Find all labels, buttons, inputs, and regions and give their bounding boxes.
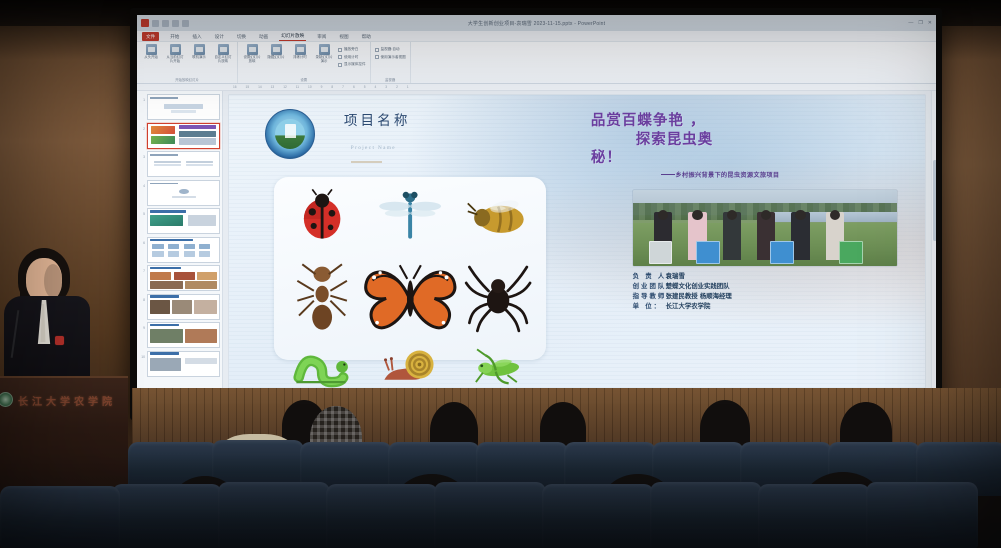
thumb-content — [197, 272, 217, 280]
thumbnail-number: 4 — [140, 180, 145, 188]
seat — [650, 482, 762, 548]
info-key: 指导教师： — [633, 292, 666, 302]
thumb-content — [154, 161, 181, 162]
thumb-title-line — [150, 183, 178, 185]
thumbnail-row[interactable]: 8 — [140, 294, 220, 320]
ruler-tick: 7 — [342, 85, 344, 89]
slide-thumbnail-5[interactable] — [147, 208, 220, 234]
slide-thumbnail-1[interactable] — [147, 94, 220, 120]
thumbnail-row[interactable]: 9 — [140, 322, 220, 348]
snail-icon — [366, 343, 454, 390]
powerpoint-window[interactable]: 大学生创新创业项目-袁瑞雪 2023-11-15.pptx - PowerPoi… — [137, 15, 936, 414]
grasshopper-icon — [454, 343, 542, 390]
thumb-content — [179, 125, 216, 129]
thumb-content — [152, 244, 163, 250]
close-icon[interactable]: ✕ — [928, 20, 932, 26]
thumb-content — [168, 244, 179, 250]
title-underline — [351, 161, 382, 163]
ribbon-tab-strip[interactable]: 文件 开始 插入 设计 切换 动画 幻灯片放映 审阅 视图 帮助 — [137, 31, 936, 42]
play-from-current-icon — [170, 44, 181, 55]
thumb-content — [150, 324, 178, 326]
thumbnail-number: 8 — [140, 294, 145, 302]
tab-animations[interactable]: 动画 — [257, 34, 270, 42]
thumbnail-number: 10 — [140, 351, 145, 359]
checkbox-box — [338, 48, 342, 52]
team-group-photo — [633, 190, 897, 266]
thumbnail-number: 2 — [140, 123, 145, 131]
record-slideshow-label: 录制幻灯片演示 — [314, 56, 334, 64]
thumb-content — [179, 189, 189, 194]
group-label-start-show: 开始放映幻灯片 — [141, 77, 233, 82]
thumbnail-number: 6 — [140, 237, 145, 245]
project-name-subtitle: Project Name — [351, 145, 396, 151]
checkbox-box — [338, 63, 342, 67]
info-key: 单 位： — [633, 302, 666, 312]
seat — [758, 484, 870, 548]
thumb-content — [151, 136, 175, 144]
minimize-icon[interactable]: — — [908, 20, 913, 26]
photo-person — [723, 212, 742, 259]
presenter-view-label: 使用演示者视图 — [381, 55, 406, 60]
setup-show-label: 设置幻灯片放映 — [242, 56, 262, 64]
monarch-butterfly-icon — [366, 252, 454, 343]
slide-thumbnail-2[interactable] — [147, 123, 220, 149]
thumb-content — [179, 138, 216, 145]
thumbnail-number: 9 — [140, 322, 145, 330]
thumb-content — [150, 329, 183, 342]
vertical-scrollbar[interactable] — [931, 91, 936, 404]
thumb-content — [199, 244, 210, 250]
checkbox-box — [375, 55, 379, 59]
thumb-content — [150, 281, 183, 289]
use-timings-label: 使用计时 — [344, 55, 358, 60]
ant-icon — [278, 252, 366, 343]
thumb-title-line — [150, 154, 178, 156]
ruler-tick: 15 — [246, 85, 250, 89]
from-current-slide-button[interactable]: 从当前幻灯片开始 — [165, 44, 185, 64]
thumb-content — [164, 104, 204, 109]
from-beginning-button[interactable]: 从头开始 — [141, 44, 161, 60]
info-value: 袁瑞雪 — [666, 272, 685, 282]
present-online-button[interactable]: 联机演示 — [189, 44, 209, 60]
info-key: 负 责 人： — [633, 272, 666, 282]
record-slideshow-icon — [319, 44, 330, 55]
insect-collage-card — [274, 177, 545, 360]
projection-screen-bezel: 大学生创新创业项目-袁瑞雪 2023-11-15.pptx - PowerPoi… — [130, 8, 942, 420]
use-timings-checkbox[interactable]: 使用计时 — [338, 55, 366, 60]
ruler-tick: 10 — [308, 85, 312, 89]
thumb-content — [151, 126, 175, 134]
horizontal-ruler: 16 15 14 13 12 11 10 9 8 7 6 5 4 3 2 1 — [137, 84, 936, 91]
info-key: 创业团队： — [633, 282, 666, 292]
info-row-organization: 单 位： 长江大学农学院 — [633, 302, 911, 312]
audience-area — [0, 388, 1001, 548]
ruler-tick: 2 — [396, 85, 398, 89]
present-online-icon — [194, 44, 205, 55]
from-beginning-label: 从头开始 — [144, 56, 158, 60]
group-label-setup: 设置 — [242, 77, 366, 82]
info-value: 楚蝶文化创业实践团队 — [666, 282, 730, 292]
slide-thumbnail-7[interactable] — [147, 265, 220, 291]
ruler-tick: 3 — [385, 85, 387, 89]
thumb-content — [150, 300, 170, 313]
slide-thumbnail-8[interactable] — [147, 294, 220, 320]
ruler-tick: 5 — [364, 85, 366, 89]
thumb-content — [199, 251, 210, 257]
slide-thumbnail-3[interactable] — [147, 151, 220, 177]
thumb-content — [150, 215, 183, 226]
thumb-content — [185, 281, 217, 289]
tab-view[interactable]: 视图 — [337, 34, 350, 42]
dragonfly-icon — [366, 181, 454, 251]
project-info-block: 负 责 人： 袁瑞雪 创业团队： 楚蝶文化创业实践团队 指导教师： 张建民教授 … — [633, 272, 911, 312]
record-slideshow-button[interactable]: 录制幻灯片演示 — [314, 44, 334, 64]
yangtze-university-logo — [265, 109, 315, 159]
scrollbar-thumb[interactable] — [933, 160, 937, 241]
photo-display-board — [839, 241, 863, 264]
ruler-tick: 6 — [353, 85, 355, 89]
hide-slide-button[interactable]: 隐藏幻灯片 — [266, 44, 286, 60]
custom-show-label: 自定义幻灯片放映 — [213, 56, 233, 64]
thumb-content — [185, 358, 217, 364]
thumbnail-row[interactable]: 4 — [140, 180, 220, 206]
thumb-content — [150, 272, 171, 280]
caterpillar-icon — [278, 343, 366, 390]
show-media-controls-checkbox[interactable]: 显示媒体控件 — [338, 62, 366, 67]
ruler-tick: 4 — [375, 85, 377, 89]
maximize-icon[interactable]: ❐ — [918, 20, 922, 26]
photo-person — [791, 212, 810, 259]
tab-review[interactable]: 审阅 — [315, 34, 328, 42]
seat — [866, 482, 978, 548]
photo-person-head — [761, 210, 771, 220]
play-narrations-label: 播放旁白 — [344, 47, 358, 52]
thumb-content — [179, 131, 216, 137]
info-value: 长江大学农学院 — [666, 302, 711, 312]
presenter-view-checkbox[interactable]: 使用演示者视图 — [375, 55, 406, 60]
thumb-content — [186, 161, 213, 162]
ruler-tick: 13 — [271, 85, 275, 89]
seat — [218, 482, 330, 548]
current-slide[interactable]: 项目名称 Project Name 品赏百蝶争艳 ， 探索昆虫奥 秘！ 乡村振兴… — [229, 95, 925, 400]
thumbnail-row[interactable]: 7 — [140, 265, 220, 291]
rehearse-timings-icon — [295, 44, 306, 55]
ruler-tick: 11 — [296, 85, 299, 89]
thumb-content — [150, 358, 181, 371]
monitor-icon — [375, 48, 379, 52]
tab-file[interactable]: 文件 — [142, 32, 159, 41]
tab-help[interactable]: 帮助 — [360, 34, 373, 42]
thumb-content — [186, 164, 213, 165]
headline-subtitle: 乡村振兴背景下的昆虫资源文旅项目 — [661, 170, 919, 179]
photo-person-head — [795, 210, 805, 220]
tab-design[interactable]: 设计 — [213, 34, 226, 42]
thumb-content — [150, 352, 178, 354]
slide-canvas-area[interactable]: 项目名称 Project Name 品赏百蝶争艳 ， 探索昆虫奥 秘！ 乡村振兴… — [223, 91, 931, 404]
slide-thumbnail-6[interactable] — [147, 237, 220, 263]
custom-show-icon — [218, 44, 229, 55]
monitor-controls[interactable]: 监视器:自动 使用演示者视图 — [375, 44, 406, 60]
thumbnail-number: 3 — [140, 151, 145, 159]
slide-thumbnail-pane[interactable]: 1 2 — [137, 91, 223, 404]
thumbnail-number: 5 — [140, 208, 145, 216]
thumb-content — [172, 196, 196, 198]
info-value: 张建民教授 杨顺海经理 — [666, 292, 732, 302]
seat — [434, 482, 546, 548]
photo-person-head — [692, 210, 702, 220]
show-media-controls-label: 显示媒体控件 — [344, 62, 366, 67]
info-row-team: 创业团队： 楚蝶文化创业实践团队 — [633, 282, 911, 292]
hide-slide-icon — [271, 44, 282, 55]
thumbnail-row[interactable]: 10 — [140, 351, 220, 377]
thumbnail-row[interactable]: 5 — [140, 208, 220, 234]
info-row-leader: 负 责 人： 袁瑞雪 — [633, 272, 911, 282]
setup-show-icon — [247, 44, 258, 55]
seat — [112, 484, 222, 548]
ruler-tick: 8 — [331, 85, 333, 89]
thumbnail-number: 1 — [140, 94, 145, 102]
thumb-content — [184, 244, 195, 250]
seat — [0, 486, 120, 548]
thumbnail-row[interactable]: 6 — [140, 237, 220, 263]
seat — [326, 484, 438, 548]
title-bar: 大学生创新创业项目-袁瑞雪 2023-11-15.pptx - PowerPoi… — [137, 15, 936, 31]
ruler-tick: 1 — [407, 85, 409, 89]
play-from-start-icon — [146, 44, 157, 55]
hide-slide-label: 隐藏幻灯片 — [268, 56, 285, 60]
headline-line-1: 品赏百蝶争艳 ， — [591, 113, 706, 129]
ruler-tick: 16 — [233, 85, 237, 89]
thumb-content — [150, 239, 193, 241]
thumb-content — [150, 267, 181, 269]
logo-inner-emblem — [275, 119, 305, 149]
setup-checkbox-list[interactable]: 播放旁白 使用计时 显示媒体控件 — [338, 44, 366, 67]
ladybug-icon — [278, 181, 366, 251]
project-name-title: 项目名称 — [344, 115, 411, 129]
thumbnail-row[interactable]: 2 — [140, 123, 220, 149]
ruler-tick: 9 — [321, 85, 323, 89]
checkbox-box — [338, 55, 342, 59]
tab-slideshow[interactable]: 幻灯片放映 — [279, 33, 306, 42]
slide-thumbnail-10[interactable] — [147, 351, 220, 377]
slide-thumbnail-9[interactable] — [147, 322, 220, 348]
thumb-content — [168, 251, 179, 257]
photo-display-board — [770, 241, 794, 264]
custom-slideshow-button[interactable]: 自定义幻灯片放映 — [213, 44, 233, 64]
headline-line-2: 探索昆虫奥 — [591, 131, 911, 150]
seat — [542, 484, 654, 548]
photo-display-board — [696, 241, 720, 264]
setup-slideshow-button[interactable]: 设置幻灯片放映 — [242, 44, 262, 64]
tab-transitions[interactable]: 切换 — [235, 34, 248, 42]
slide-thumbnail-4[interactable] — [147, 180, 220, 206]
thumb-content — [172, 300, 192, 313]
photo-display-board — [649, 241, 673, 264]
photo-person-head — [727, 210, 737, 220]
thumb-content — [150, 210, 186, 212]
group-label-monitors: 监视器 — [375, 77, 406, 82]
ruler-tick: 14 — [258, 85, 262, 89]
tab-insert[interactable]: 插入 — [190, 34, 203, 42]
rehearse-timings-button[interactable]: 排练计时 — [290, 44, 310, 60]
window-controls[interactable]: — ❐ ✕ — [908, 20, 932, 26]
bee-icon — [454, 181, 542, 251]
ribbon-group-start-show: 从头开始 从当前幻灯片开始 联机演示 自定义幻灯片放映 — [137, 42, 238, 83]
ribbon-group-monitors: 监视器:自动 使用演示者视图 监视器 — [371, 42, 411, 83]
spider-icon — [454, 252, 542, 343]
headline-line-3: 秘！ — [591, 149, 911, 168]
thumbnail-row[interactable]: 1 — [140, 94, 220, 120]
photo-person-head — [658, 210, 668, 220]
thumbnail-number: 7 — [140, 265, 145, 273]
thumb-content — [194, 300, 217, 313]
present-online-label: 联机演示 — [192, 56, 206, 60]
presenter-face-shadow — [44, 264, 62, 298]
info-row-advisor: 指导教师： 张建民教授 杨顺海经理 — [633, 292, 911, 302]
ruler-tick: 12 — [283, 85, 287, 89]
slide-headline: 品赏百蝶争艳 ， 探索昆虫奥 秘！ — [591, 112, 911, 169]
thumb-title-line — [150, 97, 178, 99]
window-title: 大学生创新创业项目-袁瑞雪 2023-11-15.pptx - PowerPoi… — [137, 20, 936, 27]
ribbon-body[interactable]: 从头开始 从当前幻灯片开始 联机演示 自定义幻灯片放映 — [137, 42, 936, 84]
thumb-content — [188, 215, 216, 226]
thumb-content — [152, 251, 163, 257]
photo-person-head — [830, 210, 840, 220]
thumb-content — [185, 329, 217, 342]
thumb-content — [171, 110, 197, 112]
rehearse-timings-label: 排练计时 — [293, 56, 307, 60]
thumb-content — [184, 251, 195, 257]
play-narrations-checkbox[interactable]: 播放旁白 — [338, 47, 366, 52]
lecture-hall-scene: 大学生创新创业项目-袁瑞雪 2023-11-15.pptx - PowerPoi… — [0, 0, 1001, 548]
thumb-content — [174, 272, 195, 280]
editor-main-area: 1 2 — [137, 91, 936, 404]
tab-home[interactable]: 开始 — [168, 34, 181, 42]
ribbon-group-setup: 设置幻灯片放映 隐藏幻灯片 排练计时 录制幻灯片演示 — [238, 42, 371, 83]
monitor-dropdown[interactable]: 监视器:自动 — [375, 47, 406, 52]
thumb-content — [154, 164, 181, 165]
thumb-content — [150, 295, 178, 297]
monitor-dropdown-label: 监视器:自动 — [381, 47, 400, 52]
thumbnail-row[interactable]: 3 — [140, 151, 220, 177]
from-current-label: 从当前幻灯片开始 — [165, 56, 185, 64]
presenter-badge — [55, 336, 64, 345]
